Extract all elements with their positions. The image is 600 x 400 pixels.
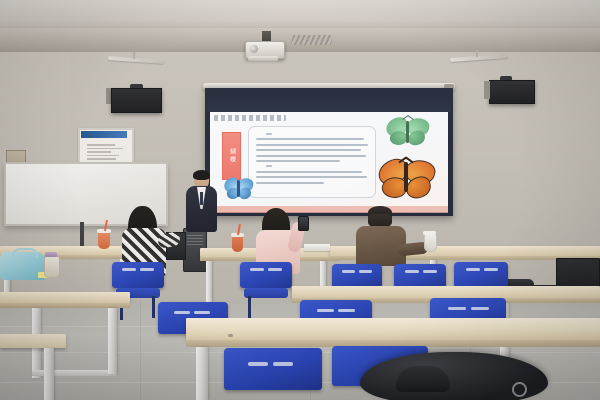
desk: [186, 318, 600, 340]
chair-leg: [152, 296, 155, 318]
chair-leg: [248, 296, 251, 318]
desk: [0, 292, 130, 303]
desk-screw: [228, 334, 233, 337]
speaker-right: [489, 80, 535, 104]
chair[interactable]: [454, 262, 508, 288]
tote-bag-strap: [12, 248, 38, 258]
chair[interactable]: [240, 262, 292, 288]
screen-dark-band: [207, 90, 451, 112]
classroom-photo: 蝴蝶: [0, 0, 600, 400]
slide-header-text: [214, 115, 286, 121]
slide-title-text: 蝴蝶: [229, 148, 235, 164]
drink-cup: [424, 234, 437, 252]
blue-butterfly-icon: [224, 178, 254, 202]
fan-left-rod: [133, 52, 135, 59]
jar-lid: [45, 252, 57, 257]
projected-slide: 蝴蝶: [210, 112, 448, 212]
drink-cup: [98, 232, 110, 249]
desk: [292, 286, 600, 298]
slide-title-box: 蝴蝶: [222, 132, 241, 180]
desk-leg: [108, 308, 117, 374]
chair[interactable]: [332, 264, 382, 288]
speaker-left: [111, 88, 162, 113]
fan-right-rod: [476, 50, 478, 57]
desk-leg: [206, 261, 212, 303]
desk-leg: [196, 347, 208, 400]
slide-body-text: [248, 126, 376, 198]
glass-jar: [44, 256, 60, 278]
speaker-right-bracket: [484, 81, 490, 99]
floor-line: [140, 300, 141, 400]
desk: [0, 334, 66, 348]
chair[interactable]: [224, 348, 322, 390]
notebook: [304, 244, 330, 251]
chair[interactable]: [394, 264, 446, 288]
projector-plate: [248, 56, 278, 61]
presenter-tie: [200, 192, 203, 205]
presenter-hair: [193, 170, 210, 180]
slide-accent-strip: [210, 206, 448, 213]
green-butterfly-icon: [386, 118, 430, 148]
backpack-buckle-icon: [512, 382, 527, 397]
poster-header-band: [81, 131, 127, 138]
whiteboard-stand: [80, 222, 84, 248]
projector-lens-icon: [250, 45, 258, 53]
chair[interactable]: [112, 262, 164, 288]
backpack-strap: [396, 366, 450, 392]
orange-monarch-butterfly-icon: [378, 158, 434, 200]
phone[interactable]: [298, 216, 309, 231]
drink-cup-lid: [423, 231, 436, 235]
desk-leg: [44, 348, 54, 400]
ceiling-vent: [291, 35, 334, 45]
drink-cup: [232, 236, 243, 252]
